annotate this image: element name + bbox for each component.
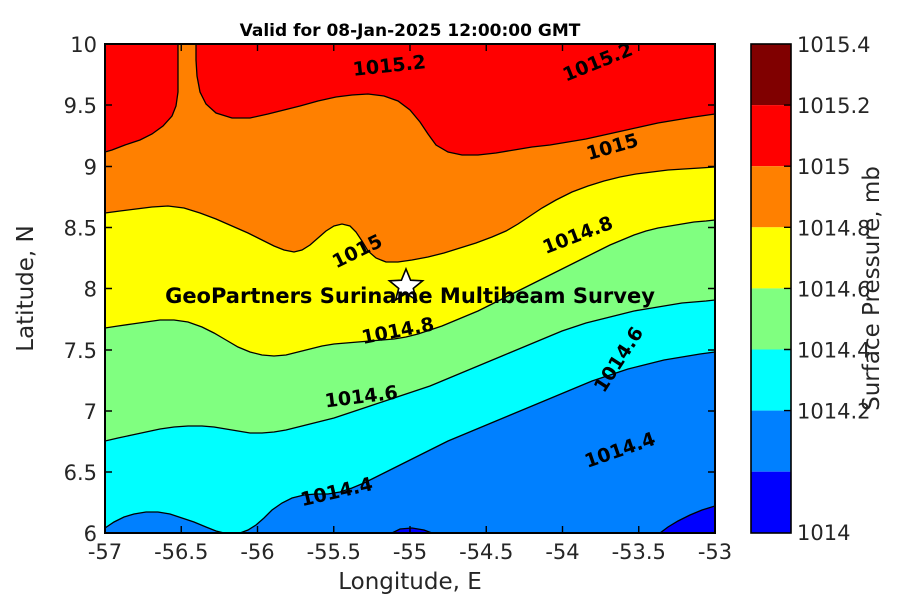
colorbar-title: Surface Pressure, mb <box>859 166 885 411</box>
x-tick-3: -55.5 <box>307 540 361 564</box>
y-tick-0: 6 <box>84 522 97 546</box>
page-title: Valid for 08-Jan-2025 12:00:00 GMT <box>240 21 581 41</box>
y-tick-7: 9.5 <box>64 94 97 118</box>
colorbar-swatch-1014p8 <box>751 227 791 288</box>
y-tick-2: 7 <box>84 400 97 424</box>
x-tick-6: -54 <box>545 540 579 564</box>
colorbar-swatch-1014p2 <box>751 411 791 472</box>
colorbar-tick-1015: 1015 <box>797 155 850 179</box>
colorbar-swatch-1015p2 <box>751 105 791 166</box>
x-tick-8: -53 <box>698 540 732 564</box>
y-tick-4: 8 <box>84 278 97 302</box>
x-tick-4: -55 <box>393 540 427 564</box>
colorbar-tick-1014: 1014 <box>797 521 850 545</box>
figure-root: -57 -56.5 -56 -55.5 -55 -54.5 -54 -53.5 … <box>0 0 900 600</box>
colorbar-swatch-1015 <box>751 166 791 227</box>
x-tick-5: -54.5 <box>459 540 513 564</box>
y-tick-6: 9 <box>84 156 97 180</box>
colorbar-swatch-1014p6 <box>751 288 791 349</box>
colorbar-tick-1015p4: 1015.4 <box>797 33 870 57</box>
x-tick-2: -56 <box>240 540 274 564</box>
y-tick-labels: 6 6.5 7 7.5 8 8.5 9 9.5 10 <box>64 33 97 546</box>
colorbar-swatch-1015p4 <box>751 44 791 105</box>
x-tick-7: -53.5 <box>612 540 666 564</box>
colorbar-tick-1015p2: 1015.2 <box>797 94 870 118</box>
colorbar-swatch-1014p4 <box>751 350 791 411</box>
y-tick-5: 8.5 <box>64 217 97 241</box>
y-tick-3: 7.5 <box>64 339 97 363</box>
y-tick-1: 6.5 <box>64 461 97 485</box>
band-1015-notch <box>178 44 196 115</box>
contour-figure: -57 -56.5 -56 -55.5 -55 -54.5 -54 -53.5 … <box>0 0 900 600</box>
survey-site-label: GeoPartners Suriname Multibeam Survey <box>165 284 655 308</box>
y-tick-8: 10 <box>70 33 97 57</box>
y-axis-title: Latitude, N <box>13 225 39 352</box>
colorbar[interactable]: 1015.4 1015.2 1015 1014.8 1014.6 1014.4 … <box>751 33 885 545</box>
x-tick-1: -56.5 <box>154 540 208 564</box>
colorbar-swatch-1014 <box>751 472 791 533</box>
x-axis-title: Longitude, E <box>338 569 482 595</box>
x-tick-labels: -57 -56.5 -56 -55.5 -55 -54.5 -54 -53.5 … <box>88 540 732 564</box>
